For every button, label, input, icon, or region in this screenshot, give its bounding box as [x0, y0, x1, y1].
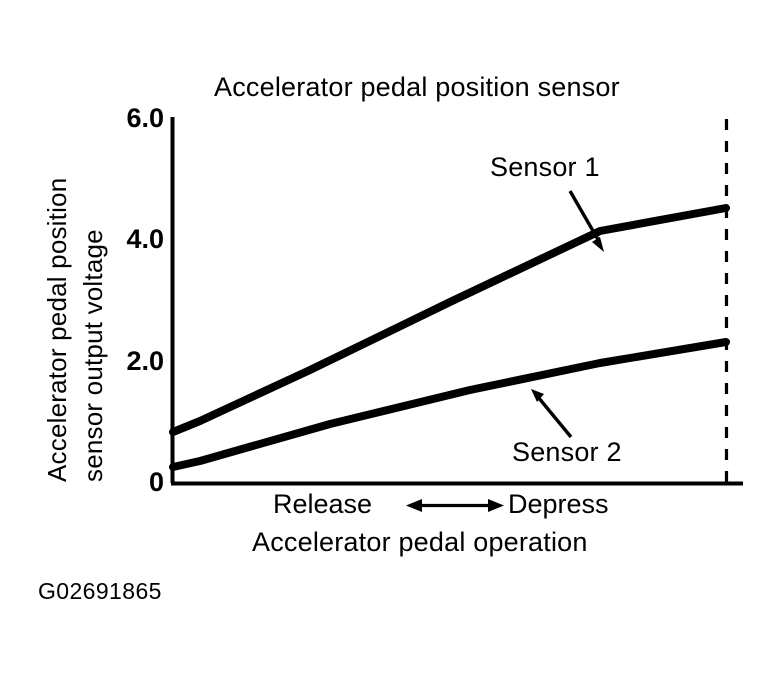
x-axis-title: Accelerator pedal operation [252, 527, 588, 558]
sensor-2-leader-arrow [531, 389, 571, 437]
plot-area [0, 0, 784, 678]
sensor-1-label: Sensor 1 [490, 152, 600, 183]
x-axis-depress-label: Depress [508, 489, 609, 520]
x-axis-direction-row: Release Depress [172, 489, 743, 523]
figure-id-code: G02691865 [38, 578, 162, 605]
x-axis-release-label: Release [273, 489, 372, 520]
figure-container: Accelerator pedal position sensor Accele… [0, 0, 784, 678]
sensor-2-curve [173, 342, 726, 467]
sensor-2-label: Sensor 2 [512, 437, 622, 468]
